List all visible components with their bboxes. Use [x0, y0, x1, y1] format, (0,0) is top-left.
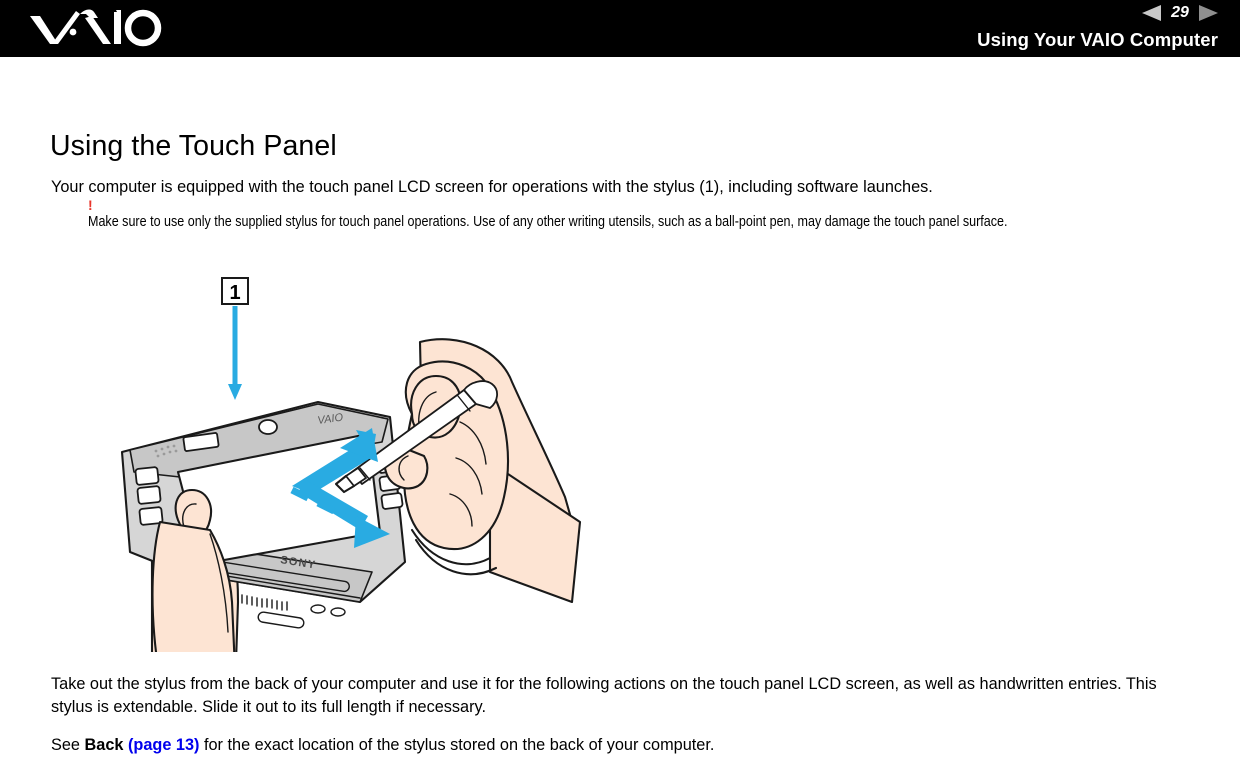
svg-text:1: 1: [229, 282, 240, 304]
header-right-group: 29 Using Your VAIO Computer: [977, 0, 1218, 51]
page-13-link[interactable]: (page 13): [128, 736, 199, 754]
page-navigation: 29: [977, 0, 1218, 24]
previous-page-icon[interactable]: [1142, 5, 1161, 21]
back-reference-label: Back: [85, 736, 124, 754]
intro-paragraph: Your computer is equipped with the touch…: [51, 177, 1211, 197]
page-content: Using the Touch Panel Your computer is e…: [0, 57, 1240, 745]
paragraph-see-back-reference: See Back (page 13) for the exact locatio…: [51, 734, 1201, 757]
touch-panel-illustration: .ln { fill:none; stroke:#1a1a1a; stroke-…: [60, 272, 620, 652]
warning-note-text: Make sure to use only the supplied stylu…: [88, 213, 1185, 232]
see-prefix: See: [51, 736, 85, 754]
paragraph-stylus-usage: Take out the stylus from the back of you…: [51, 673, 1201, 718]
warning-note: ! Make sure to use only the supplied sty…: [88, 199, 1188, 232]
next-page-icon[interactable]: [1199, 5, 1218, 21]
warning-icon: !: [88, 199, 1188, 213]
header-title: Using Your VAIO Computer: [977, 24, 1218, 51]
vaio-logo: [28, 6, 168, 50]
page-number: 29: [1168, 5, 1192, 21]
page-title: Using the Touch Panel: [50, 130, 337, 163]
page-header: 29 Using Your VAIO Computer: [0, 0, 1240, 57]
see-suffix: for the exact location of the stylus sto…: [199, 736, 714, 754]
